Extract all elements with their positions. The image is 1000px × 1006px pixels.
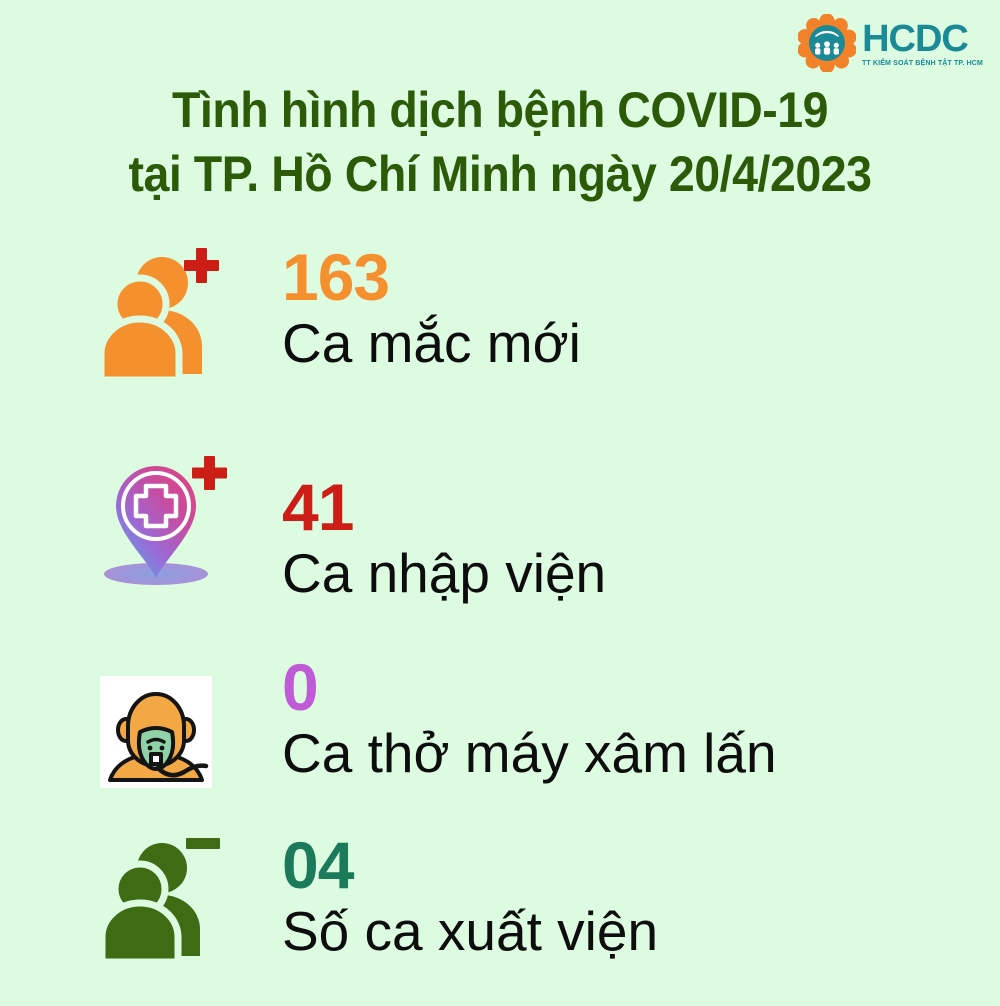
stat-row-admissions: 41 Ca nhập viện xyxy=(0,446,1000,646)
stat-value-admissions: 41 xyxy=(282,476,606,539)
page-title-line-1: Tình hình dịch bệnh COVID-19 xyxy=(35,78,965,142)
stat-label-discharges: Số ca xuất viện xyxy=(282,901,658,963)
stat-row-new-cases: 163 Ca mắc mới xyxy=(0,238,1000,446)
minus-sign-icon xyxy=(186,838,220,849)
hcdc-wordmark: HCDC xyxy=(862,21,968,57)
stat-row-ventilation: 0 Ca thở máy xâm lấn xyxy=(0,646,1000,826)
stat-label-ventilation: Ca thở máy xâm lấn xyxy=(282,723,777,785)
stat-label-admissions: Ca nhập viện xyxy=(282,543,606,605)
statistics-list: 163 Ca mắc mới xyxy=(0,238,1000,1006)
hcdc-tagline: TT KIỂM SOÁT BỆNH TẬT TP. HCM xyxy=(862,59,983,66)
hcdc-emblem-icon xyxy=(798,14,856,72)
stat-value-discharges: 04 xyxy=(282,834,658,897)
hospital-map-pin-plus-icon xyxy=(100,446,240,592)
stat-label-new-cases: Ca mắc mới xyxy=(282,313,581,375)
stat-value-ventilation: 0 xyxy=(282,656,777,719)
two-people-minus-icon xyxy=(100,826,240,968)
stat-text-new-cases: 163 Ca mắc mới xyxy=(240,238,581,374)
stat-value-new-cases: 163 xyxy=(282,246,581,309)
stat-text-ventilation: 0 Ca thở máy xâm lấn xyxy=(240,646,777,784)
two-people-plus-icon xyxy=(100,238,240,386)
page-title-line-2: tại TP. Hồ Chí Minh ngày 20/4/2023 xyxy=(35,142,965,206)
page-title: Tình hình dịch bệnh COVID-19 tại TP. Hồ … xyxy=(0,78,1000,206)
stat-text-admissions: 41 Ca nhập viện xyxy=(240,446,606,604)
patient-oxygen-mask-icon xyxy=(100,646,240,788)
stat-text-discharges: 04 Số ca xuất viện xyxy=(240,826,658,962)
stat-row-discharges: 04 Số ca xuất viện xyxy=(0,826,1000,1006)
hcdc-logo: HCDC TT KIỂM SOÁT BỆNH TẬT TP. HCM xyxy=(798,14,988,72)
